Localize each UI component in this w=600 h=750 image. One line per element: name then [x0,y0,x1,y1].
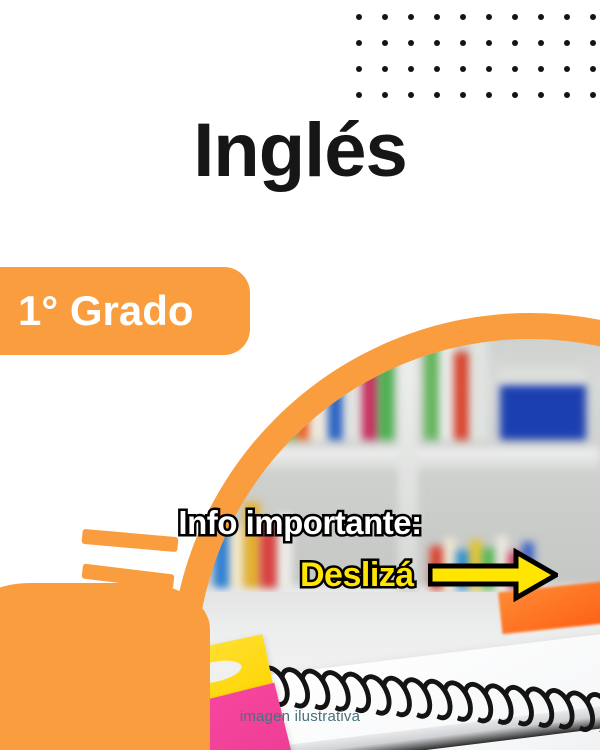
dot-grid-decoration [356,14,592,106]
grid-dot [408,92,414,98]
grid-dot [538,92,544,98]
grid-dot [538,66,544,72]
grid-dot [564,40,570,46]
grid-dot [486,66,492,72]
grid-dot [408,40,414,46]
grid-dot [382,40,388,46]
grid-dot [486,40,492,46]
grid-dot [486,92,492,98]
grid-dot [512,66,518,72]
illustrative-photo [196,339,600,750]
grid-dot [356,14,362,20]
grid-dot [486,14,492,20]
grid-dot [460,14,466,20]
grid-dot [382,14,388,20]
photo-clip [196,339,600,750]
grid-dot [590,66,596,72]
poster: Inglés 1° Grado [0,0,600,750]
grid-dot [460,40,466,46]
grid-dot [512,92,518,98]
grid-dot [564,92,570,98]
slide-word-label: Deslizá [300,556,414,595]
grid-dot [538,14,544,20]
page-title: Inglés [0,113,600,189]
grid-dot [382,92,388,98]
grid-dot [590,92,596,98]
grid-dot [408,14,414,20]
arrow-right-icon [428,548,558,602]
grid-dot [590,40,596,46]
grid-dot [382,66,388,72]
grid-dot [538,40,544,46]
grid-dot [356,92,362,98]
grid-dot [356,40,362,46]
grid-dot [434,14,440,20]
grid-dot [434,66,440,72]
grid-dot [512,40,518,46]
grid-dot [564,14,570,20]
grid-dot [590,14,596,20]
grid-dot [434,92,440,98]
grid-dot [564,66,570,72]
grid-dot [460,92,466,98]
illustrative-caption: imagen ilustrativa [0,708,600,725]
info-heading: Info importante: [0,504,600,542]
grid-dot [434,40,440,46]
grid-dot [512,14,518,20]
grid-dot [460,66,466,72]
grid-dot [408,66,414,72]
grid-dot [356,66,362,72]
slide-callout: Deslizá [300,548,600,602]
